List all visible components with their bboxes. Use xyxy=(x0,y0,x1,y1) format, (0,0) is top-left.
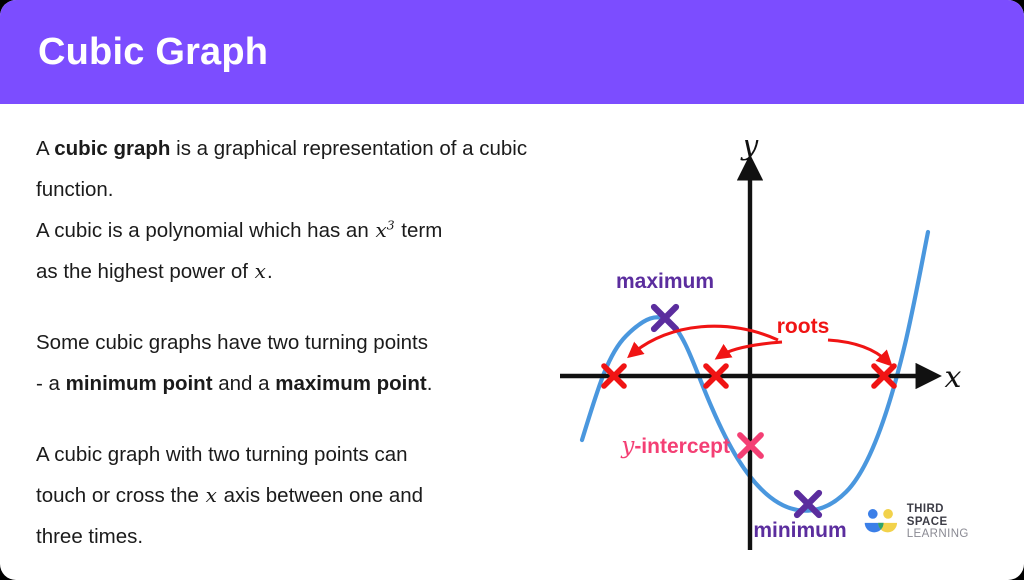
p2-seg1: Some cubic graphs have two turning point… xyxy=(36,331,428,354)
label-y-intercept: y-intercept xyxy=(620,433,730,459)
header-bar: Cubic Graph xyxy=(0,0,1024,104)
logo-line-1: THIRD SPACE xyxy=(907,503,980,528)
p2-seg3: and a xyxy=(213,372,276,395)
label-roots: roots xyxy=(777,315,830,338)
paragraph-axis-crossings: A cubic graph with two turning points ca… xyxy=(36,434,581,557)
p3-seg1: A cubic graph with two turning points ca… xyxy=(36,443,408,466)
p2-bold-maximum-point: maximum point xyxy=(275,372,427,395)
page-title: Cubic Graph xyxy=(38,31,268,74)
logo-wordmark: THIRD SPACE LEARNING xyxy=(907,503,980,540)
paragraph-definition: A cubic graph is a graphical representat… xyxy=(36,128,581,292)
p2-seg4: . xyxy=(427,372,433,395)
third-space-logo-icon xyxy=(862,506,900,538)
p3-seg2: touch or cross the xyxy=(36,484,205,507)
lesson-card: Cubic Graph A cubic graph is a graphical… xyxy=(0,0,1024,580)
brand-logo: THIRD SPACE LEARNING xyxy=(862,503,980,541)
p2-bold-minimum-point: minimum point xyxy=(66,372,213,395)
math-x-2: x xyxy=(205,483,218,507)
label-minimum: minimum xyxy=(753,519,846,542)
paragraph-turning-points: Some cubic graphs have two turning point… xyxy=(36,322,581,404)
x-axis-label: x xyxy=(945,360,962,395)
p1-seg5: as the highest power of xyxy=(36,260,254,283)
y-axis-label: y xyxy=(740,140,760,162)
p2-seg2: - a xyxy=(36,372,66,395)
p3-seg4: three times. xyxy=(36,525,143,548)
lesson-text-column: A cubic graph is a graphical representat… xyxy=(36,128,581,557)
roots-arrow-right xyxy=(828,340,888,362)
p1-seg3: A cubic is a polynomial which has an xyxy=(36,219,374,242)
math-x-cubed: x3 xyxy=(374,218,395,242)
p1-seg1: A xyxy=(36,137,54,160)
p1-seg4: term xyxy=(396,219,443,242)
p1-bold-cubic-graph: cubic graph xyxy=(54,137,170,160)
p1-seg6: . xyxy=(267,260,273,283)
math-x-1: x xyxy=(254,259,267,283)
logo-line-2: LEARNING xyxy=(907,528,980,540)
p3-seg3: axis between one and xyxy=(218,484,423,507)
label-maximum: maximum xyxy=(616,270,714,293)
